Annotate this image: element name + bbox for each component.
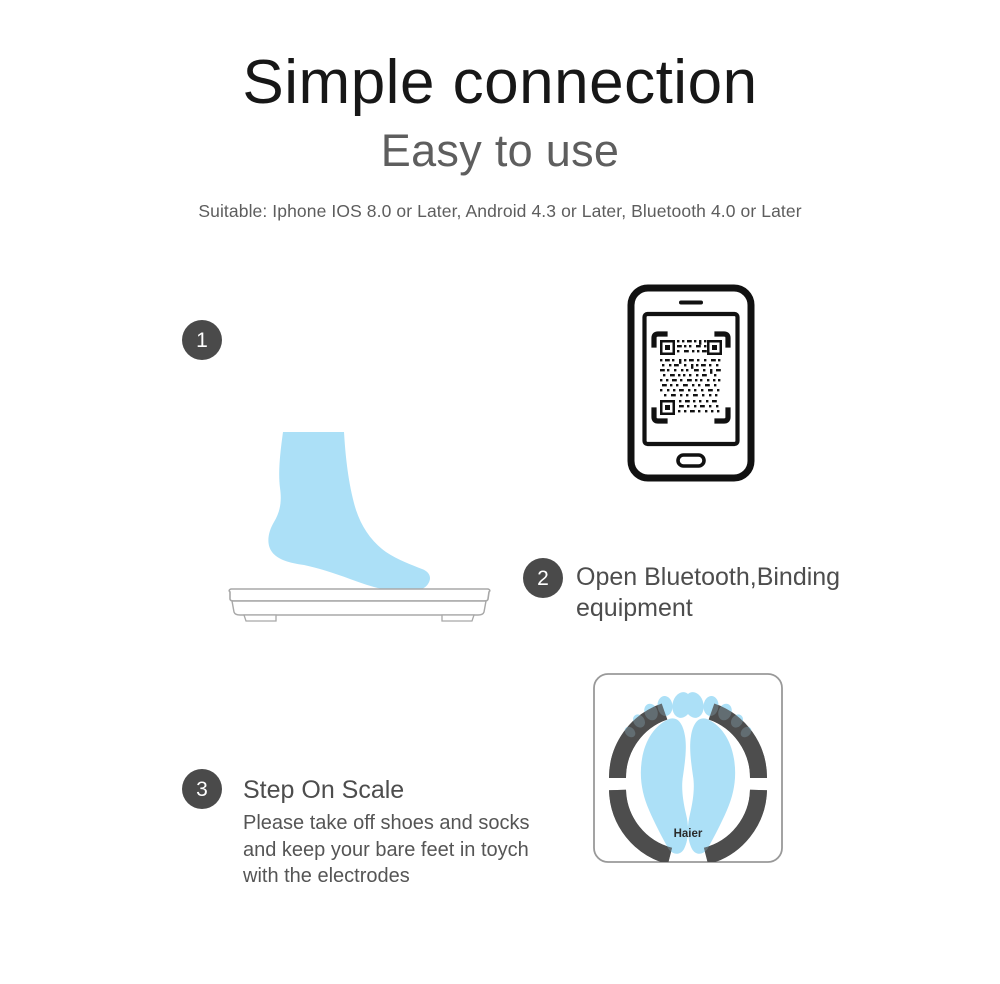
scale-foot-pad-left [244,615,276,621]
foot-silhouette [268,432,430,592]
compatibility-note: Suitable: Iphone IOS 8.0 or Later, Andro… [0,203,1000,221]
phone-home-button [678,455,704,466]
page-title: Simple connection [0,52,1000,114]
scale-platform-top [229,589,490,601]
infographic-page: Simple connection Easy to use Suitable: … [0,0,1000,984]
qr-code-icon [659,339,723,416]
page-subtitle: Easy to use [0,128,1000,173]
foot-on-scale-illustration [222,432,497,632]
scale-top-view-illustration: Haier [592,672,784,869]
step-badge-2: 2 [523,558,563,598]
step-badge-1: 1 [182,320,222,360]
phone-qr-illustration [626,283,756,488]
step-badge-3: 3 [182,769,222,809]
step-3-body: Please take off shoes and socks and keep… [243,810,533,890]
scale-brand-label: Haier [674,828,703,840]
step-2-heading: Open Bluetooth,Binding equipment [576,562,876,624]
scale-foot-pad-right [442,615,474,621]
step-3-heading: Step On Scale [243,775,404,805]
scale-platform-base [232,601,486,615]
